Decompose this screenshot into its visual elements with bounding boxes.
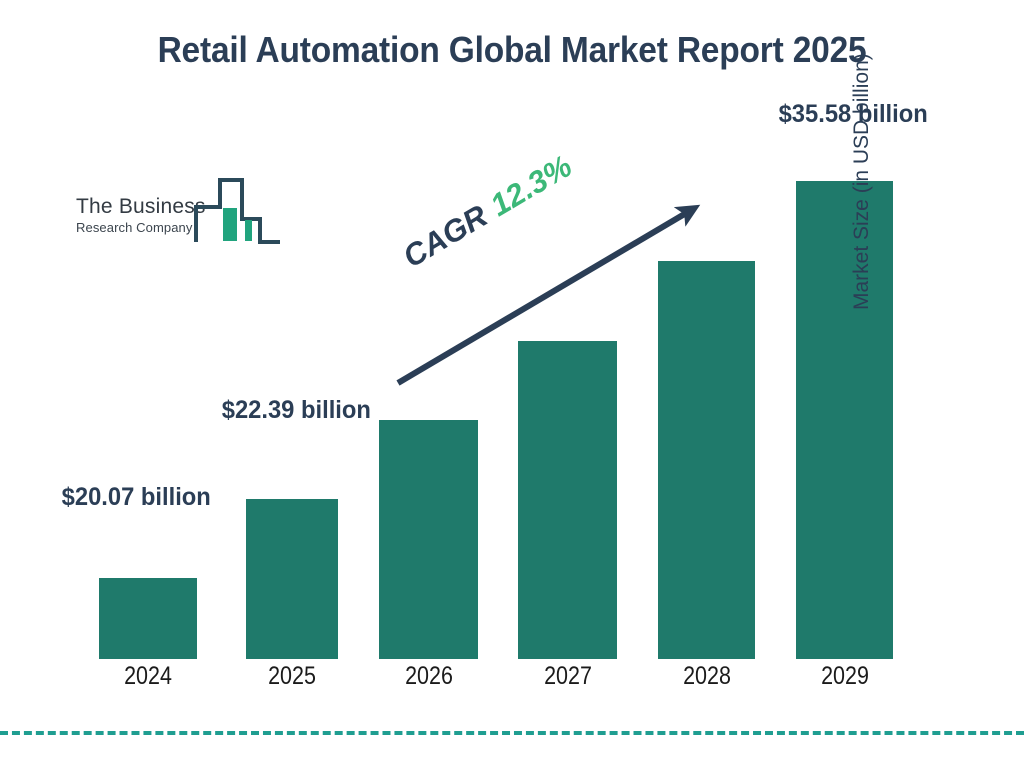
value-label-2024-text: $20.07 billion [62, 483, 211, 511]
value-label-2025-text: $22.39 billion [222, 396, 371, 424]
axis-label-2026: 2026 [377, 664, 480, 689]
bar-2026 [379, 420, 478, 659]
brand-logo: The Business Research Company [76, 196, 282, 254]
bar-2028 [658, 261, 755, 659]
chart-canvas: Retail Automation Global Market Report 2… [0, 0, 1024, 768]
bar-2027 [518, 341, 617, 659]
cagr-label: CAGR [397, 198, 493, 274]
value-label-2025: $22.39 billion [222, 394, 365, 426]
page-title: Retail Automation Global Market Report 2… [140, 28, 884, 72]
axis-label-2025: 2025 [240, 664, 343, 689]
footer-divider [0, 731, 1024, 735]
y-axis-title: Market Size (in USD billion) [851, 0, 872, 310]
bar-2025 [246, 499, 338, 659]
cagr-value: 12.3% [484, 148, 578, 223]
value-label-2024: $20.07 billion [62, 481, 201, 513]
axis-label-2027: 2027 [516, 664, 619, 689]
value-label-2029: $35.58 billion [779, 98, 916, 130]
axis-label-2028: 2028 [655, 664, 758, 689]
brand-logo-line1: The Business [76, 196, 206, 217]
brand-logo-line2: Research Company [76, 221, 206, 234]
axis-label-2024: 2024 [96, 664, 199, 689]
brand-logo-text: The Business Research Company [76, 196, 206, 234]
cagr-annotation: CAGR12.3% [398, 150, 577, 273]
bar-2029 [796, 181, 893, 659]
brand-logo-bars-icon [190, 175, 282, 258]
bar-2024 [99, 578, 197, 659]
axis-label-2029: 2029 [793, 664, 896, 689]
